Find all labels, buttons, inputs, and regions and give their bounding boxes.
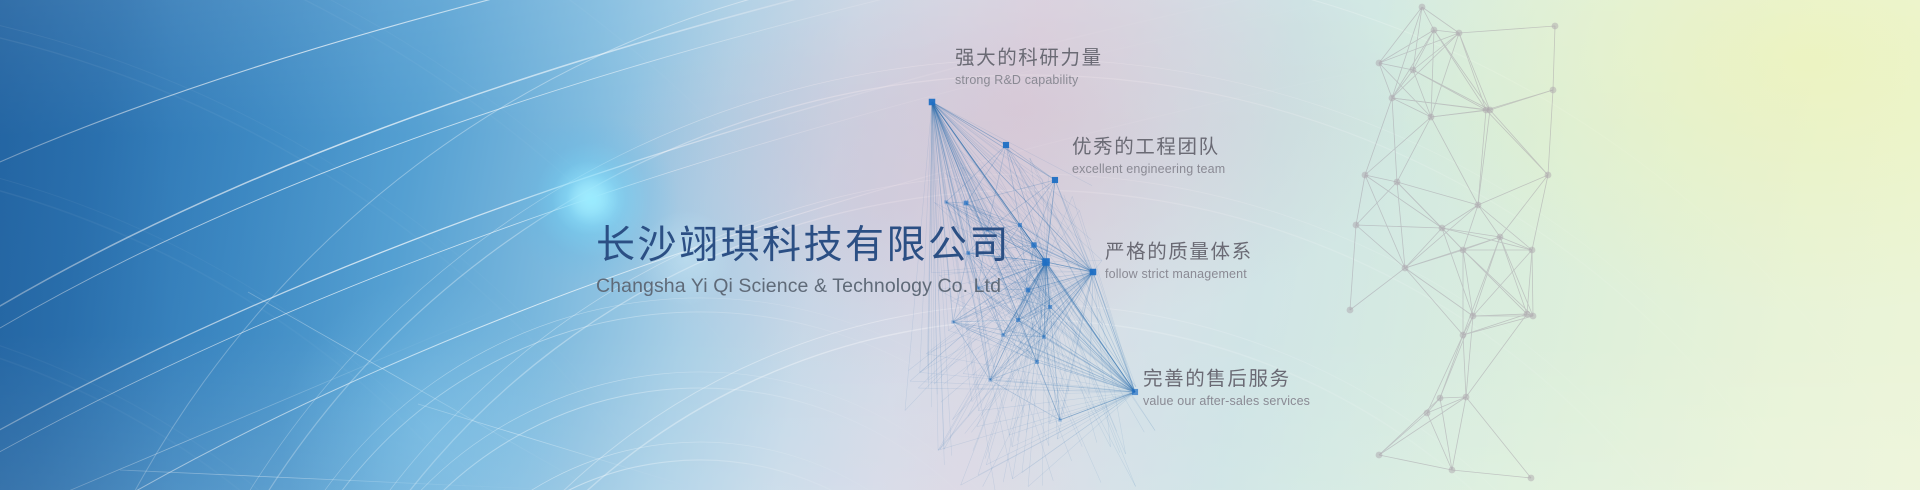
feature-item-service: 完善的售后服务 value our after-sales services [1143,367,1310,409]
mesh-node [1456,30,1463,37]
mesh-node [1428,114,1435,121]
feature-label-cn: 严格的质量体系 [1105,240,1253,264]
feature-item-team: 优秀的工程团队 excellent engineering team [1072,135,1225,177]
feature-label-en: follow strict management [1105,267,1253,282]
mesh-node [1439,225,1446,232]
mesh-node [1389,95,1396,102]
feature-item-quality: 严格的质量体系 follow strict management [1105,240,1253,282]
feature-label-en: value our after-sales services [1143,394,1310,409]
mesh-node [1552,23,1559,30]
feature-label-en: excellent engineering team [1072,162,1225,177]
mesh-node [1419,4,1426,11]
mesh-node [1470,313,1477,320]
mesh-node [1530,313,1537,320]
mesh-node [1550,87,1557,94]
mesh-node [1475,202,1482,209]
mesh-node [1394,179,1401,186]
mesh-node [1376,60,1383,67]
feature-item-rd: 强大的科研力量 strong R&D capability [955,46,1103,88]
feature-label-en: strong R&D capability [955,73,1103,88]
mesh-node [1545,172,1552,179]
mesh-node [1529,247,1536,254]
mesh-node [1463,394,1470,401]
mesh-node [1437,395,1444,402]
mesh-node [1528,475,1535,482]
mesh-node [1424,410,1431,417]
feature-label-cn: 优秀的工程团队 [1072,135,1225,159]
hero-banner: 长沙翊琪科技有限公司 Changsha Yi Qi Science & Tech… [0,0,1920,490]
mesh-nodes [1347,4,1559,482]
mesh-node [1487,107,1494,114]
feature-label-cn: 完善的售后服务 [1143,367,1310,391]
mesh-node [1449,467,1456,474]
mesh-node [1353,222,1360,229]
mesh-node [1497,234,1504,241]
mesh-node [1362,172,1369,179]
mesh-node [1347,307,1354,314]
mesh-node [1460,247,1467,254]
mesh-node [1402,265,1409,272]
mesh-node [1524,311,1531,318]
mesh-node [1376,452,1383,459]
feature-label-cn: 强大的科研力量 [955,46,1103,70]
mesh-node [1431,27,1438,34]
mesh-node [1460,332,1467,339]
mesh-edges [1350,7,1555,478]
mesh-node [1410,67,1417,74]
